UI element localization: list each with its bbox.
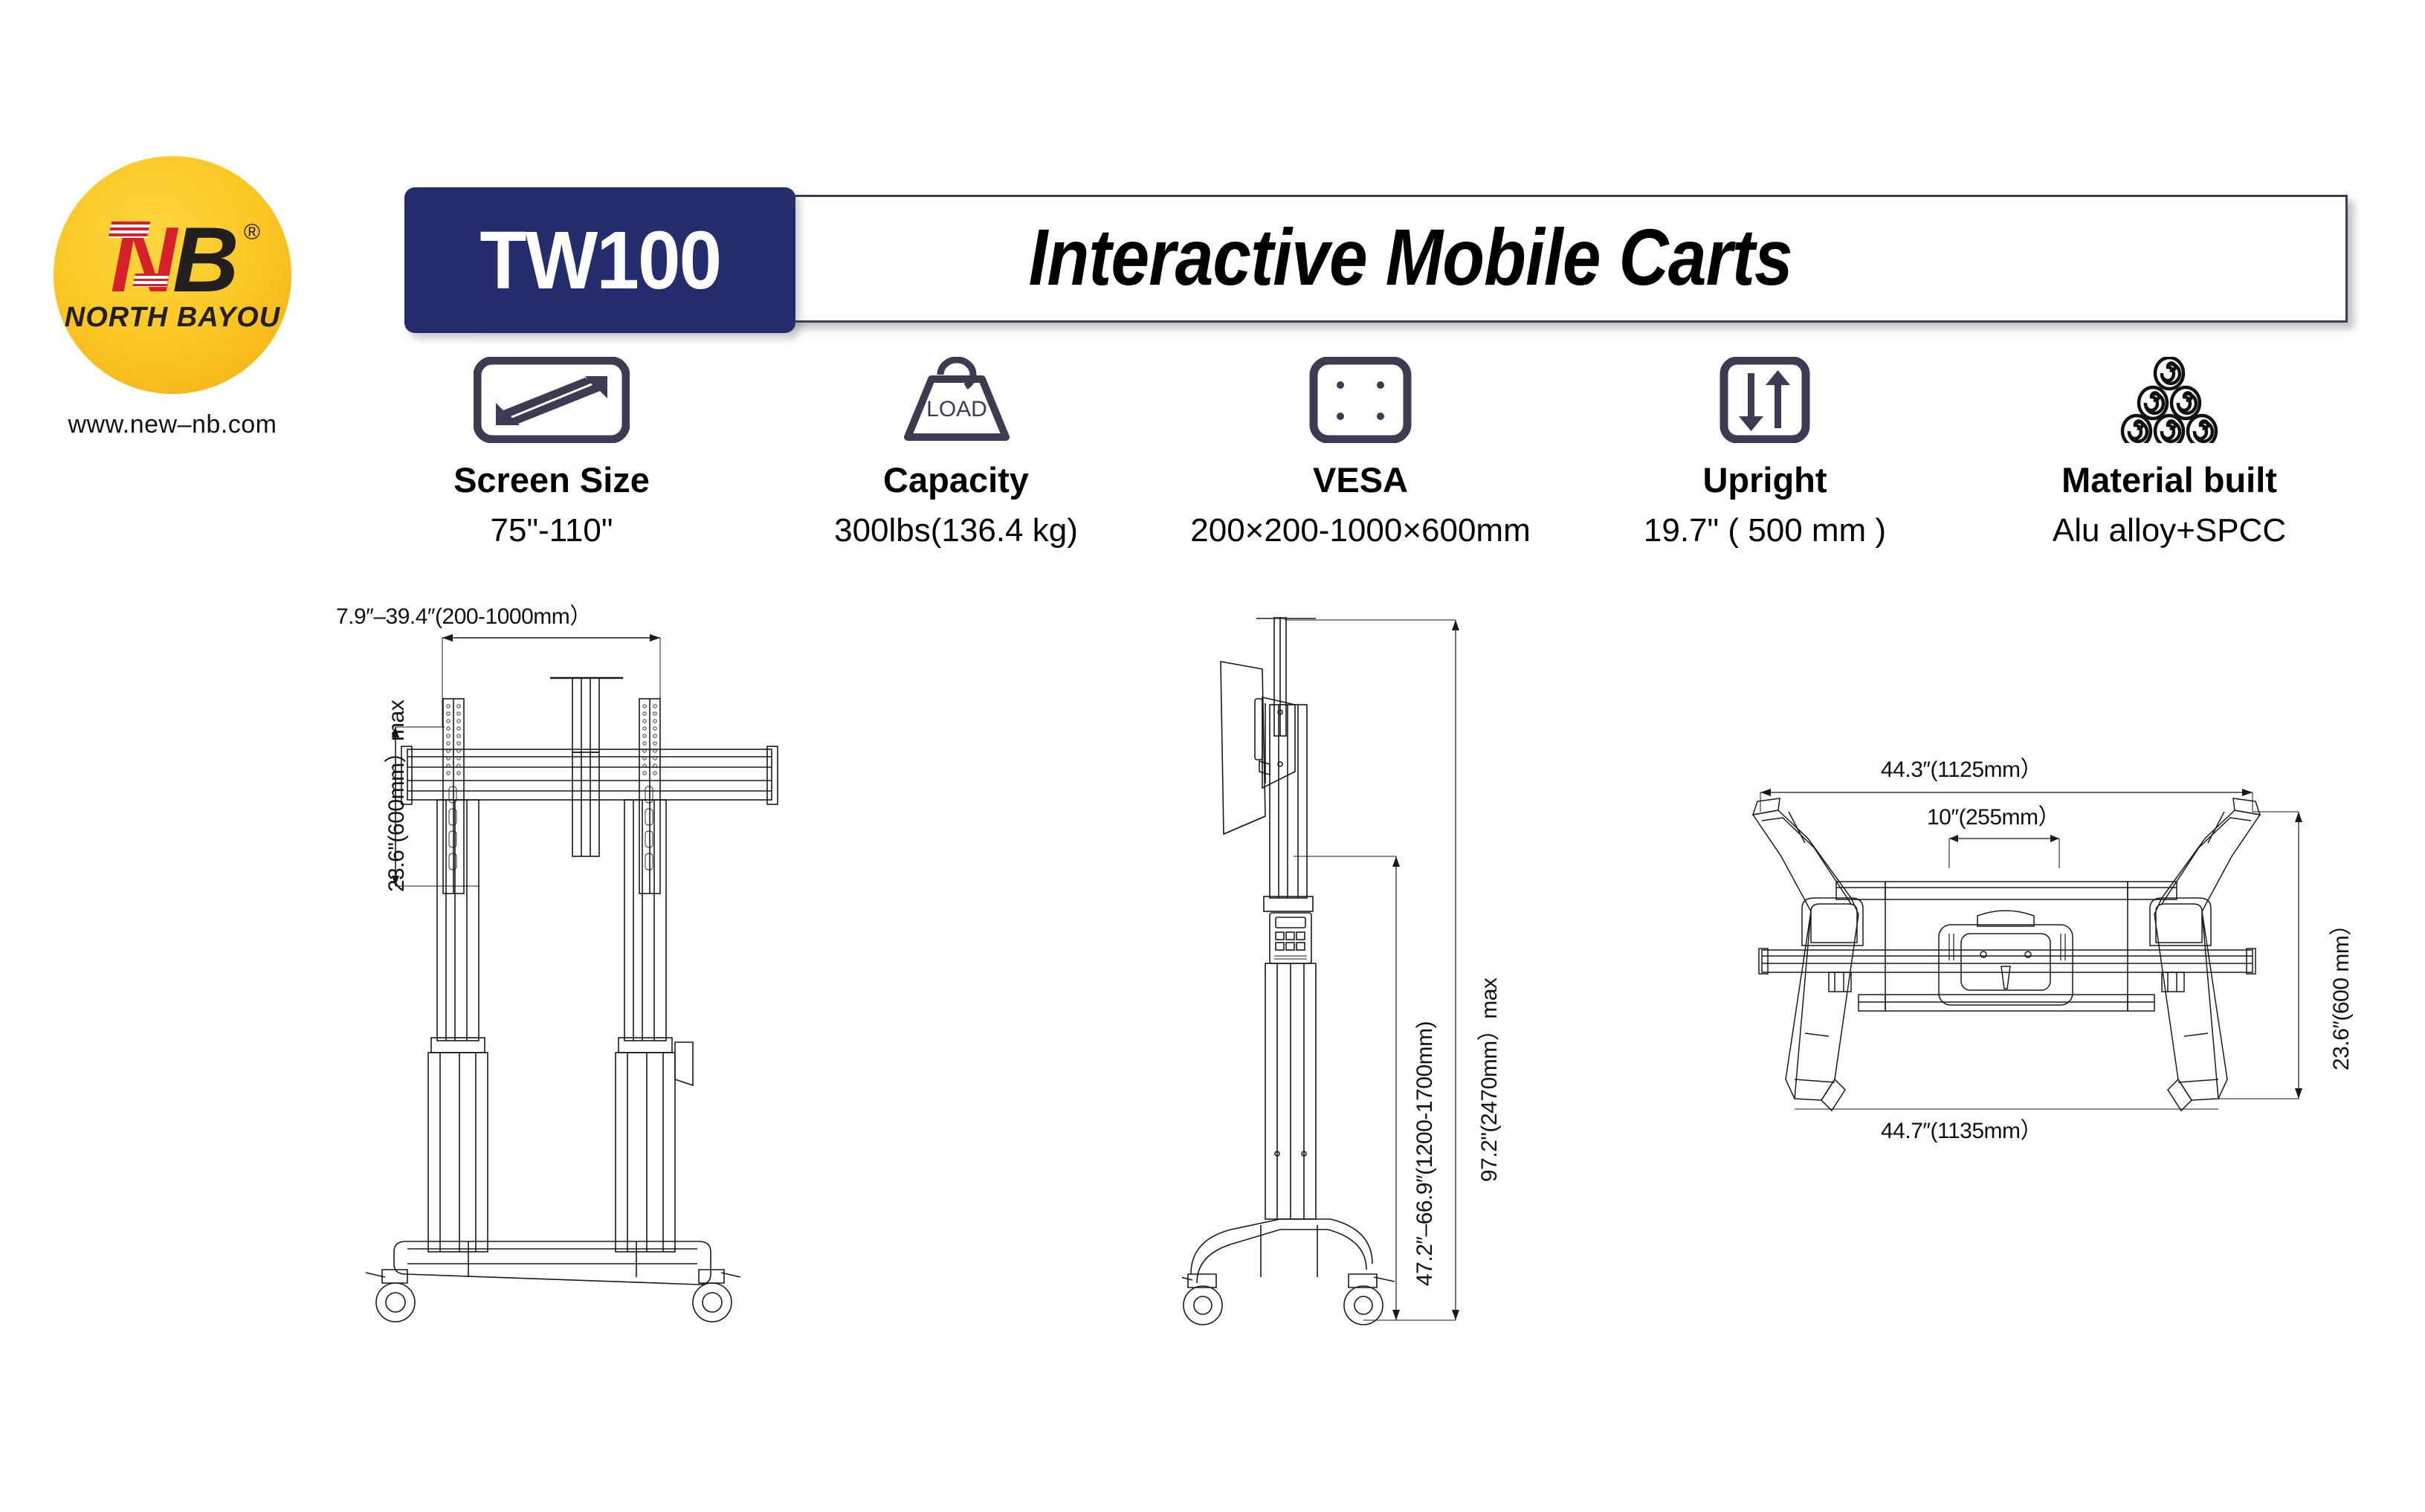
side-view-total-height-dimension: 97.2"(2470mm）max [1470, 978, 1503, 1182]
vesa-plate-icon [1158, 357, 1563, 443]
nb-letter-b: B [172, 209, 235, 311]
feature-label-vesa: VESA [1158, 459, 1563, 500]
top-view-drawing: 44.3″(1125mm） 10″(255mm） 44.7″(1135mm） 2… [1740, 743, 2349, 1115]
svg-text:LOAD: LOAD [926, 397, 987, 421]
load-weight-icon: LOAD [754, 357, 1158, 443]
nb-logo-disc: NB ® NORTH BAYOU [54, 156, 291, 394]
material-coils-icon [1967, 357, 2371, 443]
top-view-depth-dimension: 23.6″(600 mm） [2322, 914, 2355, 1070]
model-number-tab: TW100 [404, 187, 795, 333]
nb-wordmark: NORTH BAYOU [54, 302, 291, 334]
side-view-adjust-range-dimension: 47.2″–66.9″(1200-1700mm) [1412, 1021, 1438, 1286]
top-view-center-width-dimension: 10″(255mm） [1927, 798, 2060, 831]
feature-label-material-built: Material built [1967, 459, 2371, 500]
header-bar: Interactive Mobile Carts TW100 [404, 187, 2348, 333]
brand-logo-block: NB ® NORTH BAYOU www.new–nb.com [46, 156, 299, 439]
feature-value-screen-size: 75"-110" [349, 512, 754, 549]
feature-vesa: VESA 200×200-1000×600mm [1158, 357, 1563, 549]
feature-material-built: Material built Alu alloy+SPCC [1967, 357, 2371, 549]
feature-capacity: LOAD Capacity 300lbs(136.4 kg) [754, 357, 1158, 549]
feature-screen-size: Screen Size 75"-110" [349, 357, 754, 549]
feature-value-upright: 19.7" ( 500 mm ) [1563, 512, 1967, 549]
top-view-rail-width-dimension: 44.3″(1125mm） [1881, 751, 2042, 784]
screen-diagonal-icon [349, 357, 754, 443]
front-view-width-dimension: 7.9″–39.4″(200-1000mm） [336, 598, 592, 630]
nb-stripe-bottom-icon [132, 274, 169, 287]
top-view-base-width-dimension: 44.7″(1135mm） [1881, 1112, 2042, 1145]
side-view-drawing: 97.2"(2470mm）max 47.2″–66.9″(1200-1700mm… [1182, 617, 1658, 1338]
page-title-text: Interactive Mobile Carts [1028, 210, 1792, 303]
feature-upright: Upright 19.7" ( 500 mm ) [1563, 357, 1967, 549]
feature-value-vesa: 200×200-1000×600mm [1158, 512, 1563, 549]
model-number-text: TW100 [479, 213, 720, 308]
front-view-height-dimension: 23.6"(600mm）max [378, 700, 410, 892]
brand-website: www.new–nb.com [46, 410, 299, 439]
feature-label-capacity: Capacity [754, 459, 1158, 500]
nb-stripe-top-icon [109, 222, 151, 238]
feature-spec-row: Screen Size 75"-110" LOAD Capacity 300lb… [349, 357, 2371, 549]
feature-value-material-built: Alu alloy+SPCC [1967, 512, 2371, 549]
up-down-arrows-icon [1563, 357, 1967, 443]
registered-trademark-icon: ® [244, 220, 260, 245]
feature-label-upright: Upright [1563, 459, 1967, 500]
feature-value-capacity: 300lbs(136.4 kg) [754, 512, 1158, 549]
front-view-drawing: 7.9″–39.4″(200-1000mm） 23.6"(600mm）max [349, 595, 840, 1338]
feature-label-screen-size: Screen Size [349, 459, 754, 500]
